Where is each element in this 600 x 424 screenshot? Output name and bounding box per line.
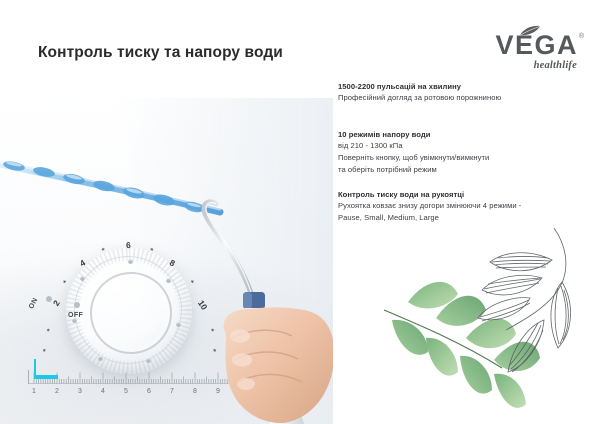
promo-slide: Контроль тиску та напору води VEGA ® hea… [0, 0, 600, 424]
page-title: Контроль тиску та напору води [38, 44, 283, 62]
feature-line: Поверніть кнопку, щоб увімкнути/вимкнути [338, 152, 596, 164]
ruler-number: 4 [101, 388, 105, 395]
feature-title: 1500-2200 пульсацій на хвилину [338, 81, 596, 92]
ruler-number: 7 [170, 388, 174, 395]
dial-star: * [61, 278, 69, 287]
dial-star: * [41, 348, 50, 353]
ruler-number: 5 [124, 388, 128, 395]
feature-title: 10 режимів напору води [338, 129, 596, 140]
feature-line: та оберіть потрібний режим [338, 164, 596, 176]
feature-title: Контроль тиску води на рукоятці [338, 189, 596, 200]
dial-star: * [45, 328, 54, 334]
logo-wordmark: VEGA [495, 32, 578, 59]
power-on-dot[interactable] [46, 296, 52, 302]
registered-mark: ® [579, 33, 584, 40]
ruler-number: 2 [55, 388, 59, 395]
ruler-number: 3 [78, 388, 82, 395]
hand-holding-device [218, 276, 333, 424]
dial-label-4: 4 [78, 257, 87, 268]
dial-label-8: 8 [168, 257, 177, 268]
feature-block-modes: 10 режимів напору води від 210 - 1300 кП… [338, 129, 596, 176]
ruler-number: 1 [32, 388, 36, 395]
power-off-label: OFF [68, 312, 83, 319]
leaf-branch-illustration [382, 222, 600, 424]
ruler-selection[interactable] [34, 375, 58, 379]
power-on-label: ON [28, 297, 39, 310]
dial-star: * [149, 246, 154, 255]
dial-star: * [101, 246, 106, 255]
dial-label-6: 6 [126, 240, 131, 250]
feature-line: Професійний догляд за ротовою порожниною [338, 92, 596, 104]
feature-line: Рухоятка ковзає знизу догори змінюючи 4 … [338, 200, 596, 212]
power-off-dot[interactable] [74, 302, 80, 308]
power-labels: ON OFF [28, 288, 138, 324]
feature-block-pulses: 1500-2200 пульсацій на хвилину Професійн… [338, 81, 596, 104]
ruler-number: 6 [147, 388, 151, 395]
brand-logo: VEGA ® healthlife [474, 26, 582, 74]
product-photo: * * 2 * 4 * 6 * 8 * 10 * * ON OFF [0, 98, 333, 424]
feature-block-handle: Контроль тиску води на рукоятці Рухоятка… [338, 189, 596, 224]
logo-tagline: healthlife [534, 60, 577, 71]
feature-line: від 210 - 1300 кПа [338, 140, 596, 152]
